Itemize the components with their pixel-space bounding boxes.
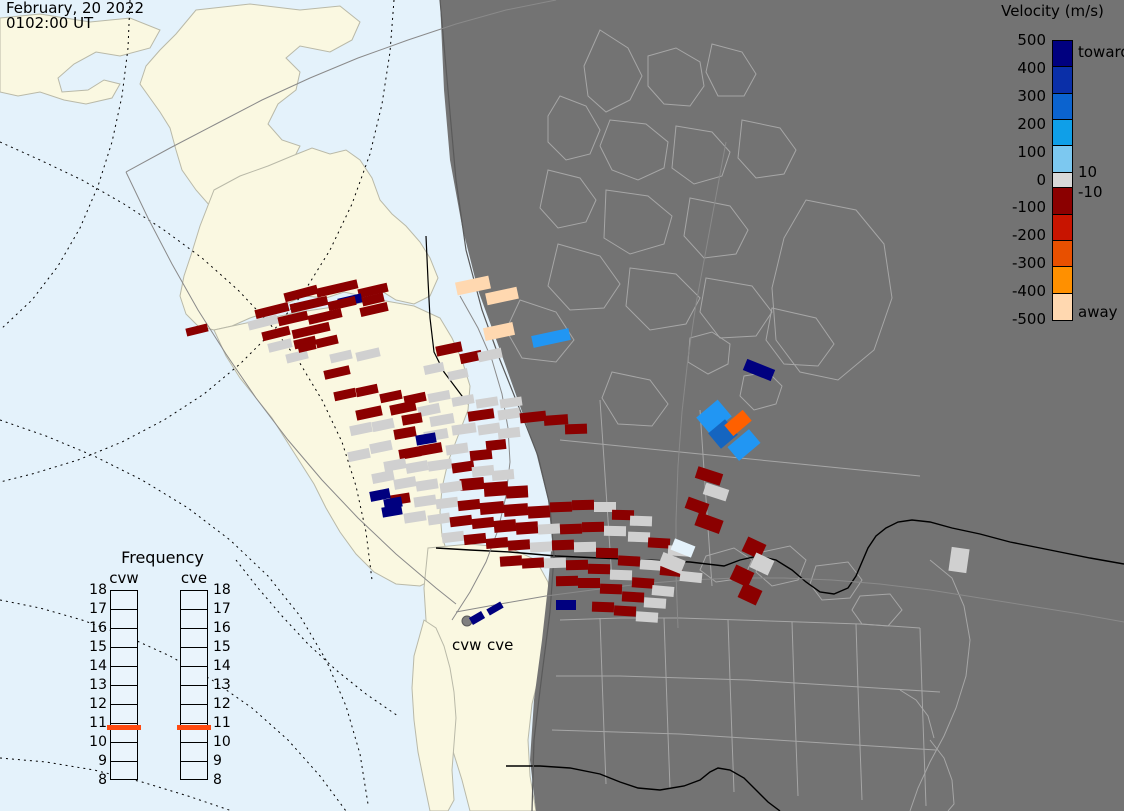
frequency-tick-right-13: 13 [213,677,231,693]
frequency-row [181,591,207,610]
velocity-cell [644,597,667,609]
velocity-cell [484,481,509,497]
station-label-cvw: cvw [452,636,481,654]
frequency-tick-left-13: 13 [87,677,107,693]
velocity-cell [522,557,544,568]
velocity-cell [578,578,600,588]
colorbar-tick-500: 500 [1017,31,1046,49]
frequency-tick-left-17: 17 [87,601,107,617]
colorbar-segment-pos-2 [1053,94,1072,120]
velocity-cell [486,537,509,549]
frequency-tick-right-14: 14 [213,658,231,674]
colorbar-tick-200: 200 [1017,115,1046,133]
frequency-tick-right-16: 16 [213,620,231,636]
frequency-marker-cve [177,725,211,730]
velocity-cell [565,424,587,435]
frequency-row [181,743,207,762]
velocity-cell [480,501,505,515]
frequency-row [111,686,137,705]
velocity-cell [544,558,566,569]
frequency-tick-right-8: 8 [213,772,222,788]
velocity-cell [492,469,515,481]
velocity-cell [504,503,529,517]
frequency-row [181,610,207,629]
velocity-cell [556,576,578,586]
colorbar-tick--300: -300 [1012,254,1046,272]
colorbar-segment-neg-1 [1053,215,1072,241]
velocity-cell [610,570,632,581]
velocity-cell [566,560,588,570]
frequency-row [181,648,207,667]
colorbar-neg-threshold-label: -10 [1078,183,1103,201]
frequency-row [181,686,207,705]
velocity-cell [588,564,610,574]
velocity-cell [560,524,582,535]
velocity-cell [500,555,523,567]
velocity-cell [618,555,640,566]
velocity-cell [506,485,529,498]
velocity-cell [530,541,552,552]
frequency-row [111,743,137,762]
frequency-tick-left-16: 16 [87,620,107,636]
velocity-cell [628,532,650,543]
frequency-row [111,667,137,686]
frequency-tick-right-9: 9 [213,753,222,769]
velocity-cell [574,542,596,552]
frequency-row [111,610,137,629]
colorbar-segment-zero [1053,173,1072,189]
frequency-tick-right-10: 10 [213,734,231,750]
colorbar-pos-threshold-label: 10 [1078,163,1097,181]
colorbar-tick-100: 100 [1017,143,1046,161]
frequency-tick-right-11: 11 [213,715,231,731]
colorbar-segment-pos-4 [1053,146,1072,172]
colorbar-tick-0: 0 [1036,171,1046,189]
frequency-row [181,762,207,781]
velocity-cell [528,505,551,518]
velocity-cell [494,519,517,533]
velocity-cell [596,548,618,558]
frequency-tick-left-14: 14 [87,658,107,674]
colorbar-segment-neg-4 [1053,294,1072,320]
timestamp-time: 0102:00 UT [6,15,93,31]
velocity-colorbar: Velocity (m/s) 5004003002001000-100-200-… [975,2,1124,332]
colorbar-tick-300: 300 [1017,87,1046,105]
colorbar-tick--500: -500 [1012,310,1046,328]
colorbar-segment-neg-0 [1053,188,1072,214]
frequency-column-label-cvw: cvw [101,569,147,587]
frequency-tick-left-8: 8 [87,772,107,788]
colorbar-segment-pos-1 [1053,67,1072,93]
colorbar-tick--400: -400 [1012,282,1046,300]
velocity-cell [544,414,569,426]
frequency-row [111,591,137,610]
frequency-marker-cvw [107,725,141,730]
frequency-row [111,629,137,648]
colorbar-tick--100: -100 [1012,198,1046,216]
velocity-cell [460,477,485,491]
velocity-cell [600,584,622,595]
colorbar-segment-pos-3 [1053,120,1072,146]
colorbar-toward-label: toward [1078,43,1124,61]
velocity-cell [552,540,574,551]
velocity-cell [648,537,670,548]
frequency-column-label-cve: cve [171,569,217,587]
velocity-cell [630,516,652,527]
colorbar-segment-pos-0 [1053,41,1072,67]
velocity-cell [652,585,675,597]
colorbar-tick-400: 400 [1017,59,1046,77]
colorbar-gradient [1052,40,1073,321]
frequency-row [111,648,137,667]
velocity-cell [572,500,594,510]
frequency-row [111,705,137,724]
velocity-cell [516,521,539,535]
colorbar-away-label: away [1078,303,1118,321]
frequency-tick-right-18: 18 [213,582,231,598]
colorbar-segment-neg-2 [1053,241,1072,267]
colorbar-title: Velocity (m/s) [981,2,1124,20]
velocity-cell [538,523,560,534]
frequency-tick-right-17: 17 [213,601,231,617]
velocity-cell [948,547,969,573]
velocity-cell [614,605,636,616]
frequency-tick-right-12: 12 [213,696,231,712]
frequency-row [111,762,137,781]
frequency-row [181,629,207,648]
velocity-cell [636,611,659,623]
velocity-cell [550,502,572,513]
velocity-cell [508,539,531,551]
frequency-legend: Frequency cvw cve 18171615141312111098 1… [85,548,240,786]
velocity-cell [604,526,626,536]
frequency-title: Frequency [85,548,240,567]
frequency-row [181,705,207,724]
frequency-tick-left-18: 18 [87,582,107,598]
radar-map-view: February, 20 2022 0102:00 UT Velocity (m… [0,0,1124,811]
colorbar-tick--200: -200 [1012,226,1046,244]
frequency-tick-left-10: 10 [87,734,107,750]
velocity-cell [556,600,576,610]
velocity-cell [592,602,614,613]
frequency-row [181,667,207,686]
frequency-bar-cve [180,590,208,780]
frequency-tick-left-11: 11 [87,715,107,731]
frequency-tick-left-9: 9 [87,753,107,769]
station-label-cve: cve [487,636,513,654]
velocity-cell [632,577,655,589]
colorbar-segment-neg-3 [1053,267,1072,293]
velocity-cell [622,591,644,602]
frequency-tick-left-12: 12 [87,696,107,712]
frequency-tick-left-15: 15 [87,639,107,655]
frequency-tick-right-15: 15 [213,639,231,655]
velocity-cell [582,522,604,532]
frequency-bar-cvw [110,590,138,780]
